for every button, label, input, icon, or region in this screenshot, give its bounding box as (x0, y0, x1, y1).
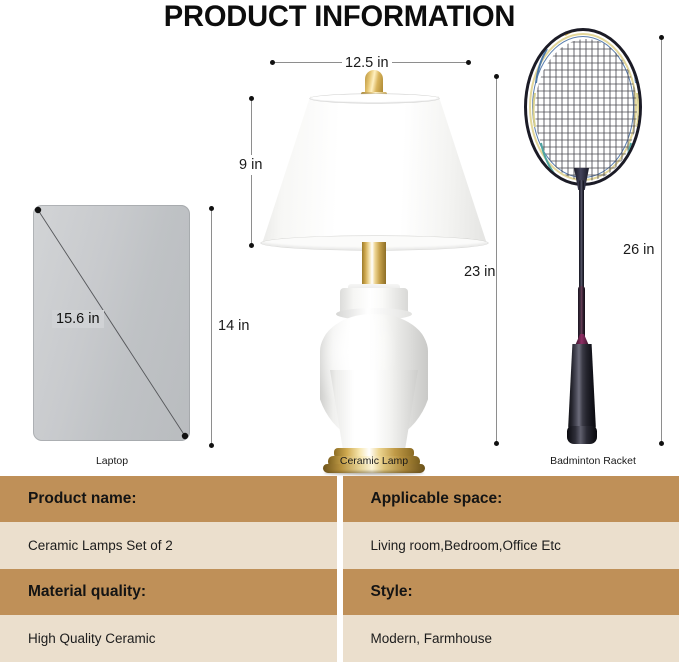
racket-caption: Badminton Racket (548, 455, 638, 467)
laptop-height-dot-top (209, 206, 214, 211)
spec-value-material-quality: High Quality Ceramic (0, 615, 337, 662)
spec-header-material-quality: Material quality: (0, 569, 337, 615)
spec-column-right: Applicable space: Living room,Bedroom,Of… (343, 476, 679, 662)
racket-length-dimension-line (661, 37, 662, 444)
laptop-caption: Laptop (72, 455, 152, 467)
lamp-width-dot-right (466, 60, 471, 65)
laptop-diagonal-label: 15.6 in (52, 310, 104, 328)
spec-header-applicable-space: Applicable space: (343, 476, 679, 522)
lamp-total-height-dimension-line (496, 76, 497, 444)
lamp-shade-top-rim (310, 94, 439, 103)
lamp-shade-height-dot-top (249, 96, 254, 101)
racket-shaft-upper (579, 180, 584, 292)
spec-header-style: Style: (343, 569, 679, 615)
spec-value-applicable-space: Living room,Bedroom,Office Etc (343, 522, 679, 569)
spec-header-product-name: Product name: (0, 476, 337, 522)
lamp-total-height-dot-top (494, 74, 499, 79)
lamp-base-shadow (324, 471, 424, 475)
lamp-shade-height-dot-bottom (249, 243, 254, 248)
spec-column-left: Product name: Ceramic Lamps Set of 2 Mat… (0, 476, 337, 662)
lamp-caption: Ceramic Lamp (334, 455, 414, 467)
product-information-infographic: PRODUCT INFORMATION 15.6 in 14 in Laptop… (0, 0, 679, 662)
lamp-width-dot-left (270, 60, 275, 65)
racket-head-frame (524, 28, 642, 186)
badminton-racket-illustration (512, 28, 652, 448)
laptop-height-dimension-line (211, 208, 212, 446)
ceramic-lamp-illustration (262, 70, 487, 445)
racket-length-dot-bottom (659, 441, 664, 446)
racket-length-dot-top (659, 35, 664, 40)
lamp-shade (262, 96, 487, 244)
lamp-shade-height-label: 9 in (236, 155, 265, 175)
spec-value-product-name: Ceramic Lamps Set of 2 (0, 522, 337, 569)
lamp-total-height-dot-bottom (494, 441, 499, 446)
racket-strings (527, 31, 642, 186)
racket-butt-cap (567, 426, 597, 444)
spec-value-style: Modern, Farmhouse (343, 615, 679, 662)
lamp-gold-neck (362, 242, 386, 290)
laptop-height-label: 14 in (218, 318, 249, 334)
laptop-height-dot-bottom (209, 443, 214, 448)
lamp-ceramic-body-lower (324, 370, 424, 456)
spec-table: Product name: Ceramic Lamps Set of 2 Mat… (0, 476, 679, 662)
